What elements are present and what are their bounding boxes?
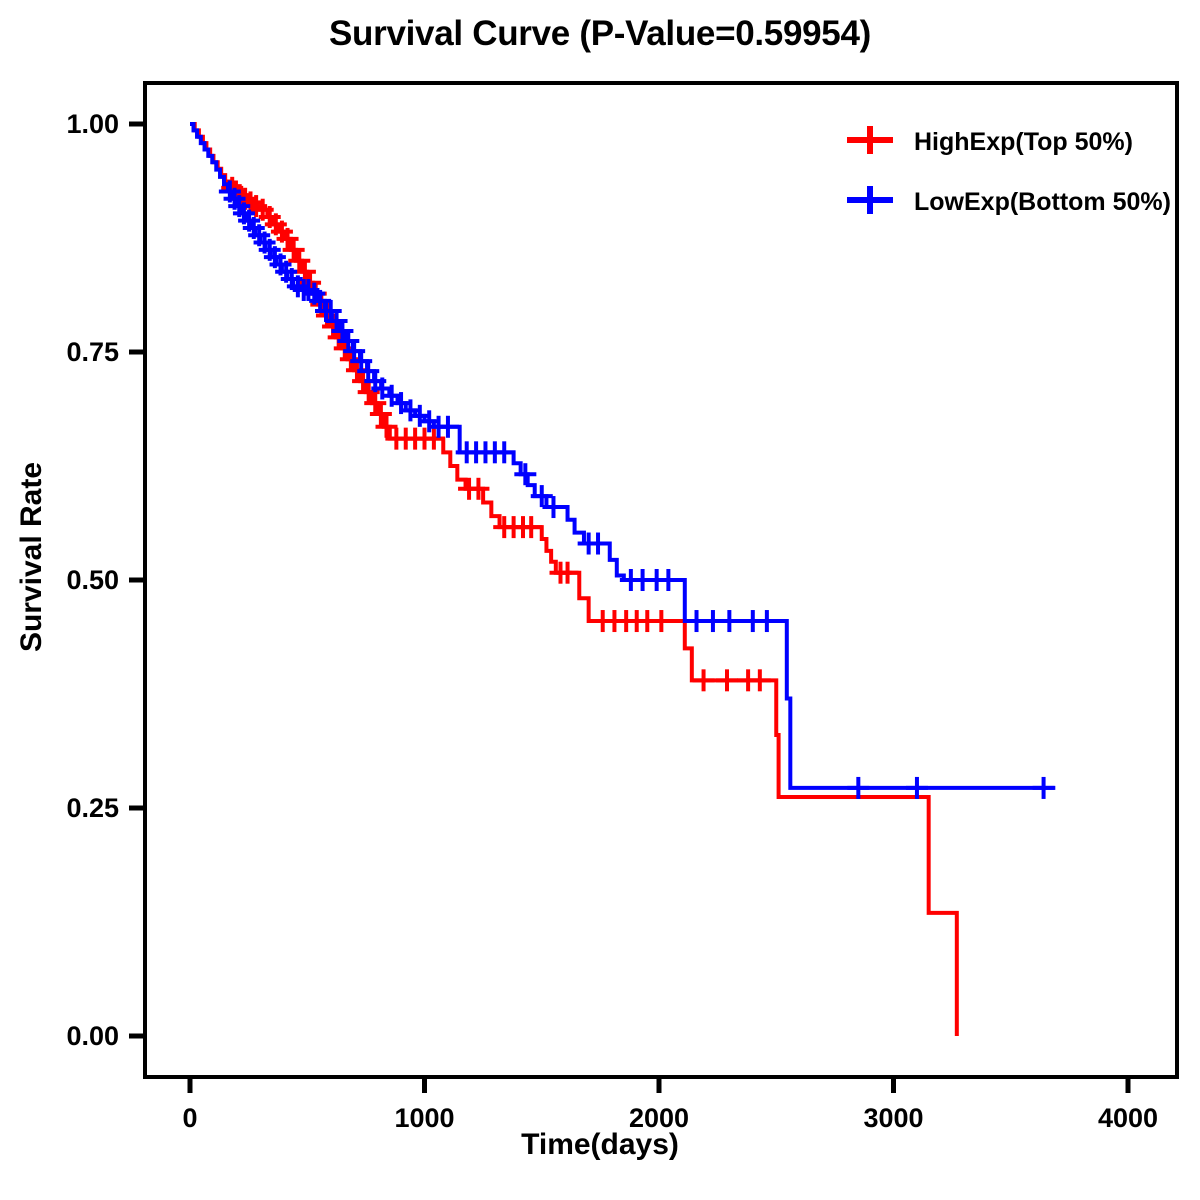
x-tick-label: 0 xyxy=(182,1103,197,1133)
x-tick-label: 3000 xyxy=(863,1103,923,1133)
y-tick-label: 0.00 xyxy=(66,1021,119,1051)
y-tick-label: 1.00 xyxy=(66,109,119,139)
legend-label: LowExp(Bottom 50%) xyxy=(914,188,1171,216)
censor-marks xyxy=(221,177,771,691)
legend-item-low-exp[interactable]: LowExp(Bottom 50%) xyxy=(847,186,1171,216)
y-tick-label: 0.50 xyxy=(66,565,119,595)
legend-plus-icon xyxy=(847,126,893,154)
x-tick-label: 4000 xyxy=(1098,1103,1158,1133)
legend-item-high-exp[interactable]: HighExp(Top 50%) xyxy=(847,126,1133,156)
series-low-exp xyxy=(190,124,1055,799)
x-tick-label: 1000 xyxy=(394,1103,454,1133)
chart-legend: HighExp(Top 50%)LowExp(Bottom 50%) xyxy=(847,126,1171,216)
plot-area: 01000200030004000 0.000.250.500.751.00 H… xyxy=(0,0,1200,1200)
survival-step-line xyxy=(190,124,1055,788)
censor-marks xyxy=(219,180,1055,798)
x-axis-ticks: 01000200030004000 xyxy=(182,1077,1158,1133)
legend-label: HighExp(Top 50%) xyxy=(914,128,1133,156)
y-tick-label: 0.25 xyxy=(66,793,119,823)
y-axis-ticks: 0.000.250.500.751.00 xyxy=(66,109,145,1051)
legend-plus-icon xyxy=(847,186,893,214)
y-tick-label: 0.75 xyxy=(66,337,119,367)
series-high-exp xyxy=(190,124,957,1036)
series-layer xyxy=(190,124,1055,1036)
survival-curve-figure: Survival Curve (P-Value=0.59954) Surviva… xyxy=(0,0,1200,1200)
x-tick-label: 2000 xyxy=(629,1103,689,1133)
